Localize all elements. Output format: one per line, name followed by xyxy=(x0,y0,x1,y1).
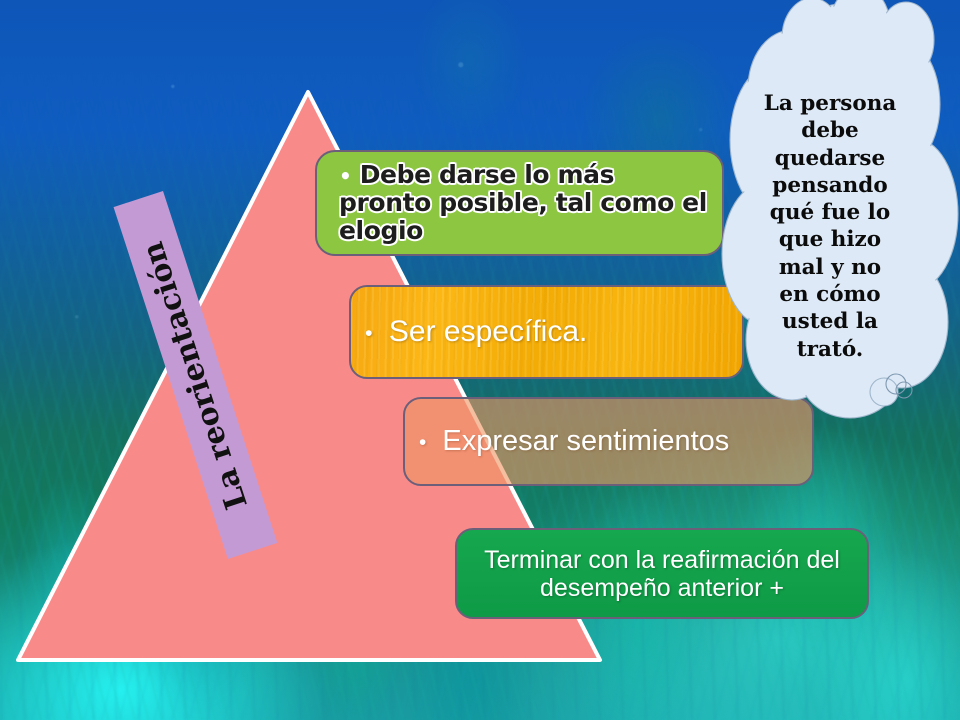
step-2-label: Ser específica. xyxy=(389,315,587,348)
step-3-bullet: • xyxy=(419,431,426,454)
step-3-text-wrap: • Expresar sentimientos xyxy=(405,425,812,457)
step-4-text-wrap: Terminar con la reafirmación del desempe… xyxy=(457,546,867,602)
slide-canvas: La reorientación • Debe darse lo más pro… xyxy=(0,0,960,720)
step-box-2[interactable]: • Ser específica. xyxy=(349,285,744,379)
step-2-text-wrap: • Ser específica. xyxy=(351,315,742,349)
step-1-text-wrap: • Debe darse lo más pronto posible, tal … xyxy=(317,161,722,245)
step-box-4[interactable]: Terminar con la reafirmación del desempe… xyxy=(455,528,869,619)
step-1-label: Debe darse lo más pronto posible, tal co… xyxy=(339,160,707,245)
step-2-bullet: • xyxy=(365,321,373,345)
step-1-bullet: • xyxy=(339,164,351,188)
thought-cloud-text: La persona debe quedarse pensando qué fu… xyxy=(744,90,916,363)
step-3-label: Expresar sentimientos xyxy=(442,425,729,457)
step-box-1[interactable]: • Debe darse lo más pronto posible, tal … xyxy=(315,150,724,256)
step-4-label: Terminar con la reafirmación del desempe… xyxy=(484,546,840,602)
